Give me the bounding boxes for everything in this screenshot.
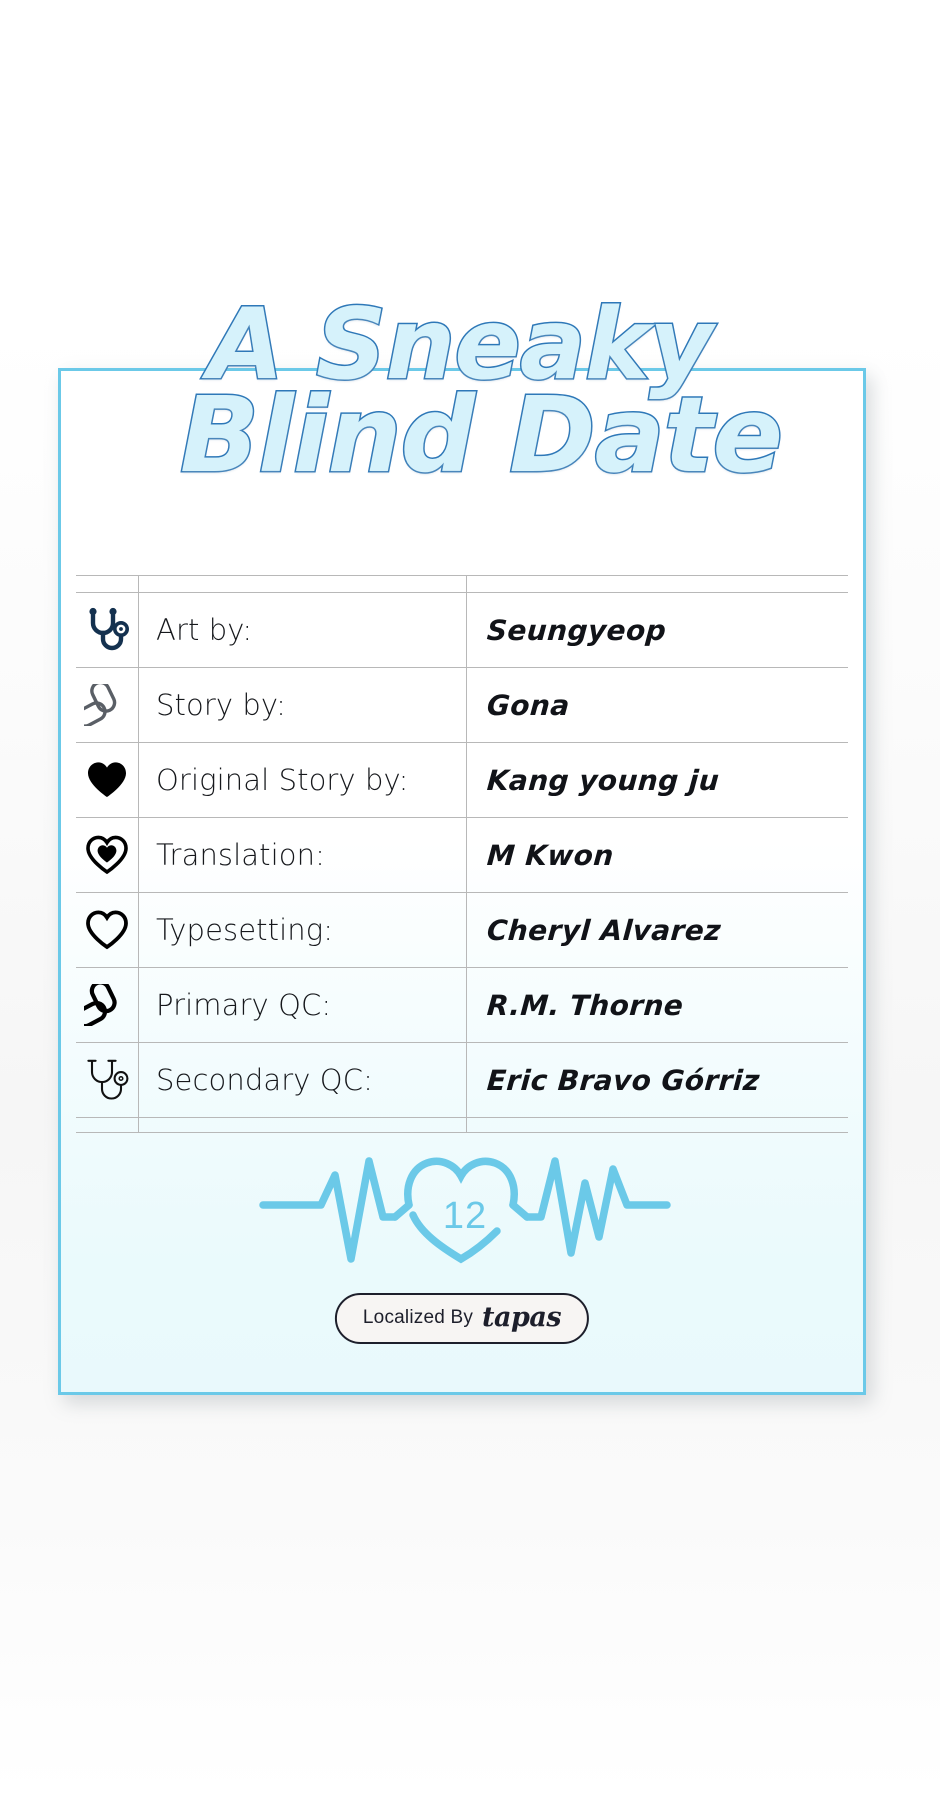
- credit-icon-cell: [76, 893, 139, 968]
- credit-icon-cell: [76, 818, 139, 893]
- credit-name: R.M. Thorne: [486, 989, 685, 1022]
- badge-prefix-label: Localized By: [363, 1307, 473, 1329]
- credit-label-cell: Original Story by:: [139, 743, 467, 818]
- stethoscope-thin-icon: [76, 1043, 138, 1117]
- table-row: Art by: Seungyeop: [76, 593, 848, 668]
- table-bottom-rule: [76, 1118, 848, 1133]
- credit-icon-cell: [76, 593, 139, 668]
- credit-name-cell: Seungyeop: [467, 593, 849, 668]
- page-background: Art by: Seungyeop: [0, 0, 940, 1796]
- credits-table: Art by: Seungyeop: [76, 575, 848, 1133]
- credit-label: Secondary QC:: [156, 1063, 373, 1097]
- credit-icon-cell: [76, 968, 139, 1043]
- credit-icon-cell: [76, 1043, 139, 1118]
- credit-icon-cell: [76, 743, 139, 818]
- localized-by-tapas-badge[interactable]: Localized By tapas: [335, 1293, 589, 1344]
- credit-name: Eric Bravo Górriz: [486, 1064, 761, 1097]
- credit-label: Original Story by:: [156, 763, 409, 797]
- credit-name: Cheryl Alvarez: [486, 914, 722, 947]
- stethoscope-icon: [76, 593, 138, 667]
- pills-bold-icon: [76, 968, 138, 1042]
- table-top-rule: [76, 576, 848, 593]
- credit-name-cell: R.M. Thorne: [467, 968, 849, 1043]
- table-bottom-rule-icon-cell: [76, 1118, 139, 1133]
- credit-label-cell: Secondary QC:: [139, 1043, 467, 1118]
- credit-label-cell: Translation:: [139, 818, 467, 893]
- table-row: Story by: Gona: [76, 668, 848, 743]
- credit-label-cell: Art by:: [139, 593, 467, 668]
- credit-name: M Kwon: [486, 839, 615, 872]
- tapas-wordmark: tapas: [482, 1304, 561, 1331]
- credit-name-cell: Eric Bravo Górriz: [467, 1043, 849, 1118]
- table-row: Secondary QC: Eric Bravo Górriz: [76, 1043, 848, 1118]
- credit-name-cell: Cheryl Alvarez: [467, 893, 849, 968]
- credit-name-cell: Gona: [467, 668, 849, 743]
- table-bottom-rule-label-cell: [139, 1118, 467, 1133]
- heart-double-icon: [76, 818, 138, 892]
- heart-outline-icon: [76, 893, 138, 967]
- table-top-rule-icon-cell: [76, 576, 139, 593]
- credit-label-cell: Story by:: [139, 668, 467, 743]
- heart-filled-icon: [76, 743, 138, 817]
- table-top-rule-name-cell: [467, 576, 849, 593]
- credit-icon-cell: [76, 668, 139, 743]
- credit-label: Typesetting:: [156, 913, 333, 947]
- credit-label-cell: Primary QC:: [139, 968, 467, 1043]
- credit-name-cell: M Kwon: [467, 818, 849, 893]
- credit-label-cell: Typesetting:: [139, 893, 467, 968]
- table-row: Translation: M Kwon: [76, 818, 848, 893]
- credit-label: Story by:: [156, 688, 286, 722]
- credit-label: Translation:: [156, 838, 325, 872]
- credit-name: Gona: [486, 689, 571, 722]
- credit-label: Art by:: [156, 613, 252, 647]
- episode-number: 12: [61, 1195, 869, 1238]
- table-top-rule-label-cell: [139, 576, 467, 593]
- table-row: Typesetting: Cheryl Alvarez: [76, 893, 848, 968]
- credit-name-cell: Kang young ju: [467, 743, 849, 818]
- table-row: Primary QC: R.M. Thorne: [76, 968, 848, 1043]
- credit-name: Kang young ju: [486, 764, 721, 797]
- table-row: Original Story by: Kang young ju: [76, 743, 848, 818]
- pills-icon: [76, 668, 138, 742]
- credits-card: Art by: Seungyeop: [58, 368, 866, 1395]
- credit-name: Seungyeop: [486, 614, 668, 647]
- table-bottom-rule-name-cell: [467, 1118, 849, 1133]
- credit-label: Primary QC:: [156, 988, 331, 1022]
